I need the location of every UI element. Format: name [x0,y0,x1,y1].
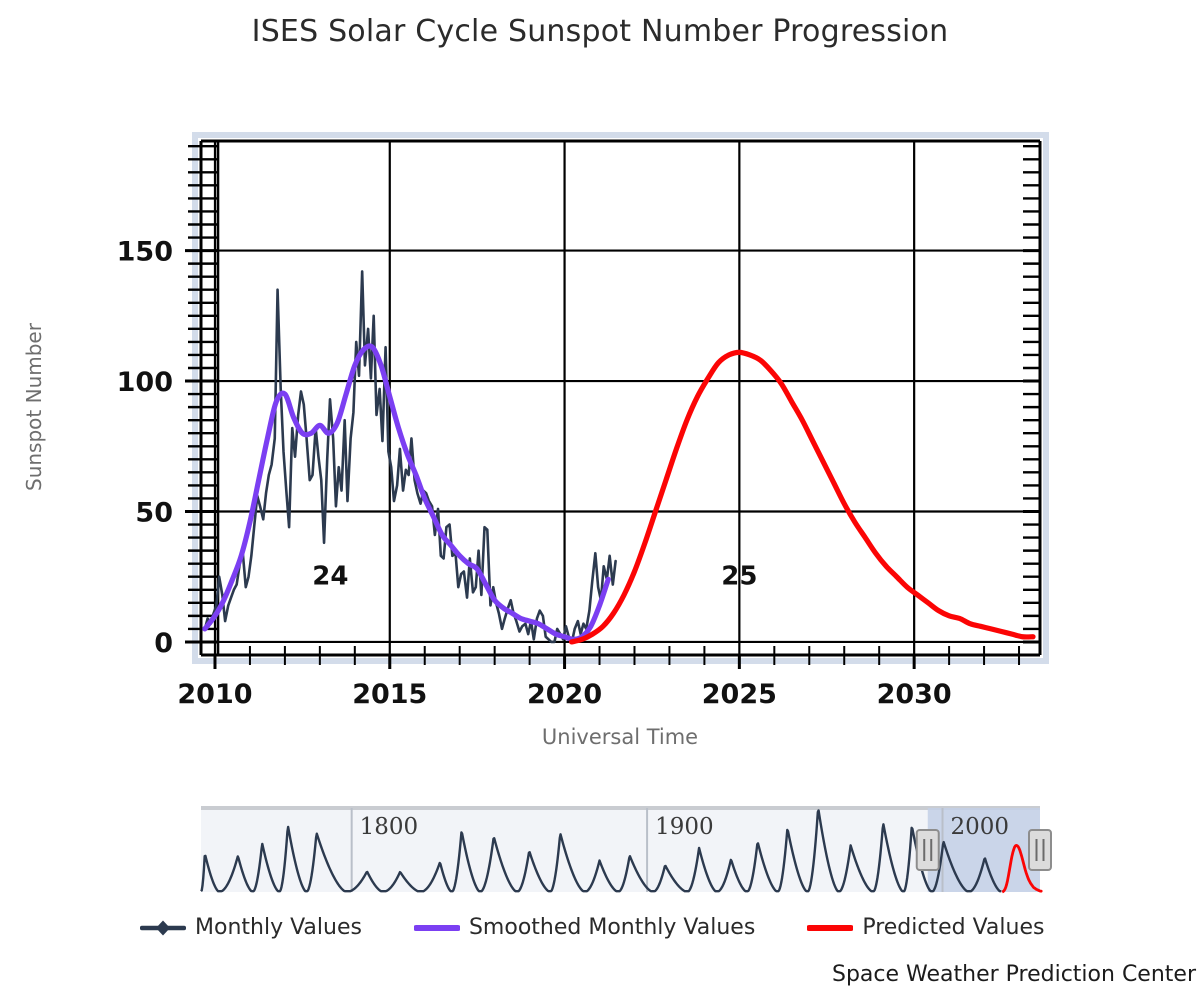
y-tick-label: 100 [117,367,173,398]
y-tick-labels: 050100150 [117,237,173,659]
x-tick-labels: 20102015202020252030 [177,679,951,710]
chart-legend: Monthly ValuesSmoothed Monthly ValuesPre… [0,915,1200,960]
legend-item-smoothed-monthly-values[interactable]: Smoothed Monthly Values [414,915,755,940]
range-background [201,808,1040,892]
range-selector-container[interactable]: 180019002000 [0,790,1200,910]
range-handle-right[interactable] [1029,830,1051,870]
x-tick-label: 2030 [877,679,952,710]
y-tick-label: 150 [117,237,173,268]
cycle-number-label-24: 24 [312,562,348,592]
range-axis-label: 2000 [951,814,1010,840]
x-tick-label: 2020 [527,679,602,710]
range-handle-right-body[interactable] [1029,830,1051,870]
legend-swatch-line [414,918,460,938]
legend-label: Predicted Values [862,915,1044,940]
range-handle-left[interactable] [917,830,939,870]
legend-item-predicted-values[interactable]: Predicted Values [807,915,1044,940]
cycle-number-label-25: 25 [721,562,757,592]
y-axis-title: Sunspot Number [22,287,46,527]
range-handle-left-body[interactable] [917,830,939,870]
y-tick-label: 0 [154,628,173,659]
x-tick-label: 2015 [352,679,427,710]
x-tick-label: 2025 [702,679,777,710]
main-plot-container: Sunspot Number 0501001502010201520202025… [0,0,1200,790]
attribution-text: Space Weather Prediction Center [0,962,1196,987]
range-selector-svg[interactable]: 180019002000 [0,790,1200,910]
x-axis-title: Universal Time [200,725,1040,749]
legend-label: Smoothed Monthly Values [469,915,755,940]
legend-item-monthly-values[interactable]: Monthly Values [140,915,362,940]
legend-swatch-diamond-line [140,918,186,938]
y-tick-label: 50 [135,497,173,528]
solar-cycle-chart-page: ISES Solar Cycle Sunspot Number Progress… [0,0,1200,1000]
main-chart-svg[interactable]: 050100150201020152020202520302425 [0,0,1200,790]
x-tick-label: 2010 [177,679,252,710]
legend-label: Monthly Values [195,915,362,940]
range-axis-label: 1800 [360,814,419,840]
legend-swatch-line [807,918,853,938]
range-axis-label: 1900 [655,814,714,840]
